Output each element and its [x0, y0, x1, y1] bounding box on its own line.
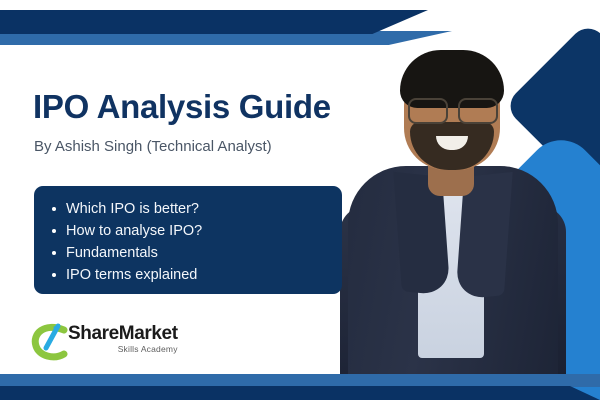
list-item: IPO terms explained — [50, 264, 342, 286]
ipo-analysis-guide-banner: IPO Analysis Guide By Ashish Singh (Tech… — [0, 0, 600, 400]
list-item: How to analyse IPO? — [50, 220, 342, 242]
bottom-accent-band-dark — [0, 386, 600, 400]
top-accent-band-dark — [0, 10, 428, 34]
logo-tagline: Skills Academy — [68, 344, 178, 355]
presenter-photo — [340, 36, 570, 400]
list-item: Fundamentals — [50, 242, 342, 264]
glasses-icon — [406, 98, 500, 120]
logo-text: ShareMarket Skills Academy — [68, 324, 178, 355]
logo-brand-name: ShareMarket — [68, 324, 178, 344]
bottom-accent-band-light — [0, 374, 600, 387]
list-item: Which IPO is better? — [50, 198, 342, 220]
page-title: IPO Analysis Guide — [33, 88, 331, 126]
author-byline: By Ashish Singh (Technical Analyst) — [34, 138, 272, 155]
brand-logo: ShareMarket Skills Academy — [30, 318, 190, 364]
topics-list-box: Which IPO is better? How to analyse IPO?… — [34, 186, 342, 294]
